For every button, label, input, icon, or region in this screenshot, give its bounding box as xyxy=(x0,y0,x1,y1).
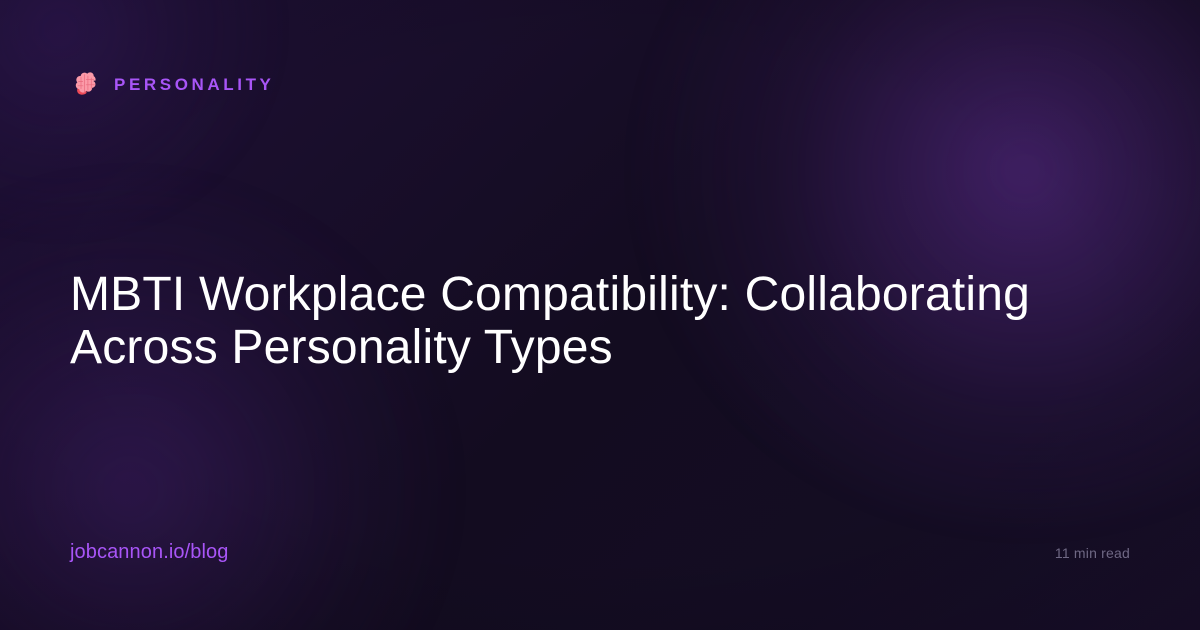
card-content: PERSONALITY MBTI Workplace Compatibility… xyxy=(0,0,1200,630)
brain-icon xyxy=(70,69,100,99)
brand-lockup: PERSONALITY xyxy=(70,68,275,100)
site-url[interactable]: jobcannon.io/blog xyxy=(70,542,229,562)
card-footer: jobcannon.io/blog 11 min read xyxy=(70,542,1130,570)
og-share-card: PERSONALITY MBTI Workplace Compatibility… xyxy=(0,0,1200,630)
brand-name: PERSONALITY xyxy=(114,76,275,93)
page-title: MBTI Workplace Compatibility: Collaborat… xyxy=(70,268,1070,374)
read-time-label: 11 min read xyxy=(1055,546,1130,560)
